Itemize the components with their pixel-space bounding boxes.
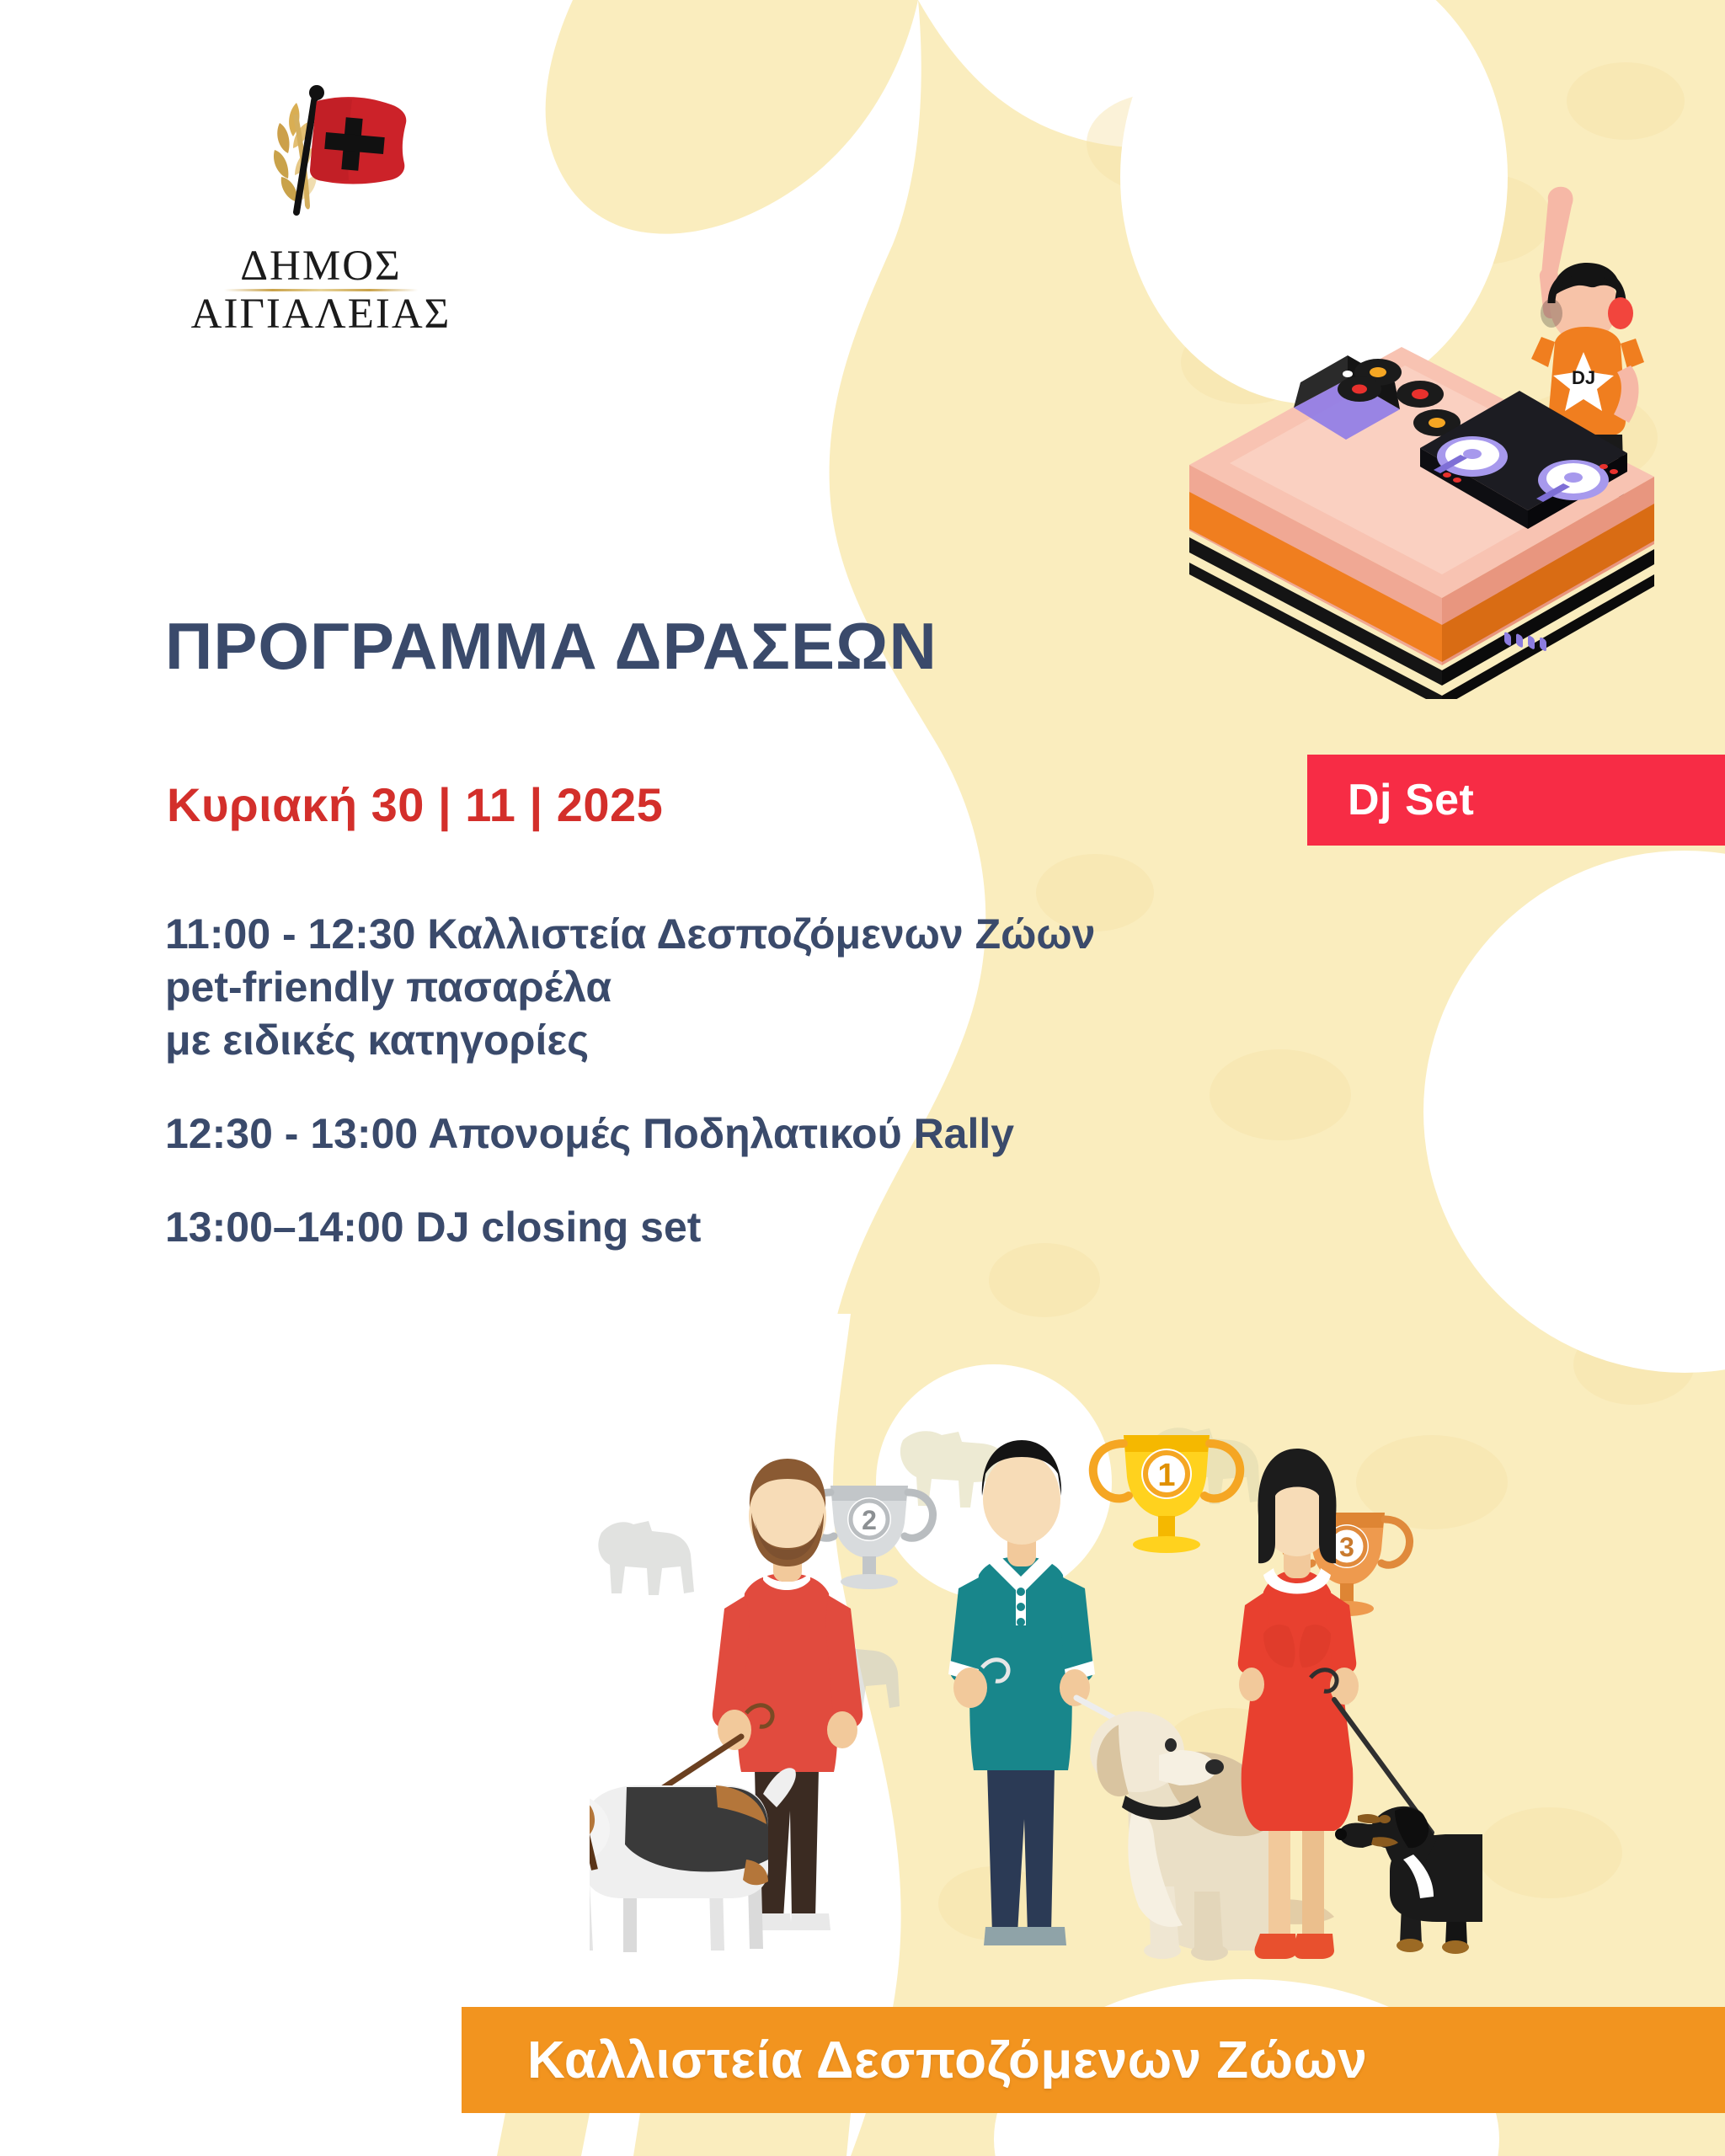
- page-title: ΠΡΟΓΡΑΜΜΑ ΔΡΑΣΕΩΝ: [165, 608, 937, 685]
- dj-shirt-text: DJ: [1572, 367, 1595, 388]
- event-date: Κυριακή 30 | 11 | 2025: [167, 777, 663, 832]
- poster-canvas: ΔΗΜΟΣ ΑΙΓΙΑΛΕΙΑΣ ΠΡΟΓΡΑΜΜΑ ΔΡΑΣΕΩΝ Κυρια…: [0, 0, 1725, 2156]
- flag-laurel-icon: [216, 77, 426, 237]
- logo-line-2: ΑΙΓΙΑΛΕΙΑΣ: [191, 292, 451, 336]
- schedule-item: 11:00 - 12:30 Καλλιστεία Δεσποζόμενων Ζώ…: [165, 908, 1095, 1067]
- trophy-3-number: 3: [1339, 1532, 1354, 1562]
- schedule-list: 11:00 - 12:30 Καλλιστεία Δεσποζόμενων Ζώ…: [165, 908, 1095, 1254]
- schedule-item: 13:00–14:00 DJ closing set: [165, 1201, 1095, 1254]
- schedule-item: 12:30 - 13:00 Απονομές Ποδηλατικού Rally: [165, 1107, 1095, 1161]
- bottom-banner-label: Καλλιστεία Δεσποζόμενων Ζώων: [462, 2031, 1367, 2090]
- bottom-banner: Καλλιστεία Δεσποζόμενων Ζώων: [462, 2007, 1725, 2113]
- schedule-line: 11:00 - 12:30 Καλλιστεία Δεσποζόμενων Ζώ…: [165, 908, 1095, 961]
- dj-booth-illustration: DJ: [1152, 126, 1691, 699]
- trophy-1-number: 1: [1157, 1458, 1175, 1493]
- trophy-2-number: 2: [862, 1505, 877, 1535]
- logo-line-1: ΔΗΜΟΣ: [191, 244, 451, 288]
- pet-contest-illustration: 2 1: [590, 1415, 1482, 2021]
- municipality-logo: ΔΗΜΟΣ ΑΙΓΙΑΛΕΙΑΣ: [207, 77, 435, 336]
- dachshund-dog: [1335, 1800, 1482, 1954]
- schedule-line: pet-friendly πασαρέλα: [165, 961, 1095, 1014]
- schedule-line: 12:30 - 13:00 Απονομές Ποδηλατικού Rally: [165, 1107, 1095, 1161]
- dj-set-label: Dj Set: [1307, 775, 1474, 825]
- schedule-line: με ειδικές κατηγορίες: [165, 1014, 1095, 1067]
- logo-wordmark: ΔΗΜΟΣ ΑΙΓΙΑΛΕΙΑΣ: [191, 244, 451, 336]
- schedule-line: 13:00–14:00 DJ closing set: [165, 1201, 1095, 1254]
- dj-set-badge: Dj Set: [1307, 755, 1725, 846]
